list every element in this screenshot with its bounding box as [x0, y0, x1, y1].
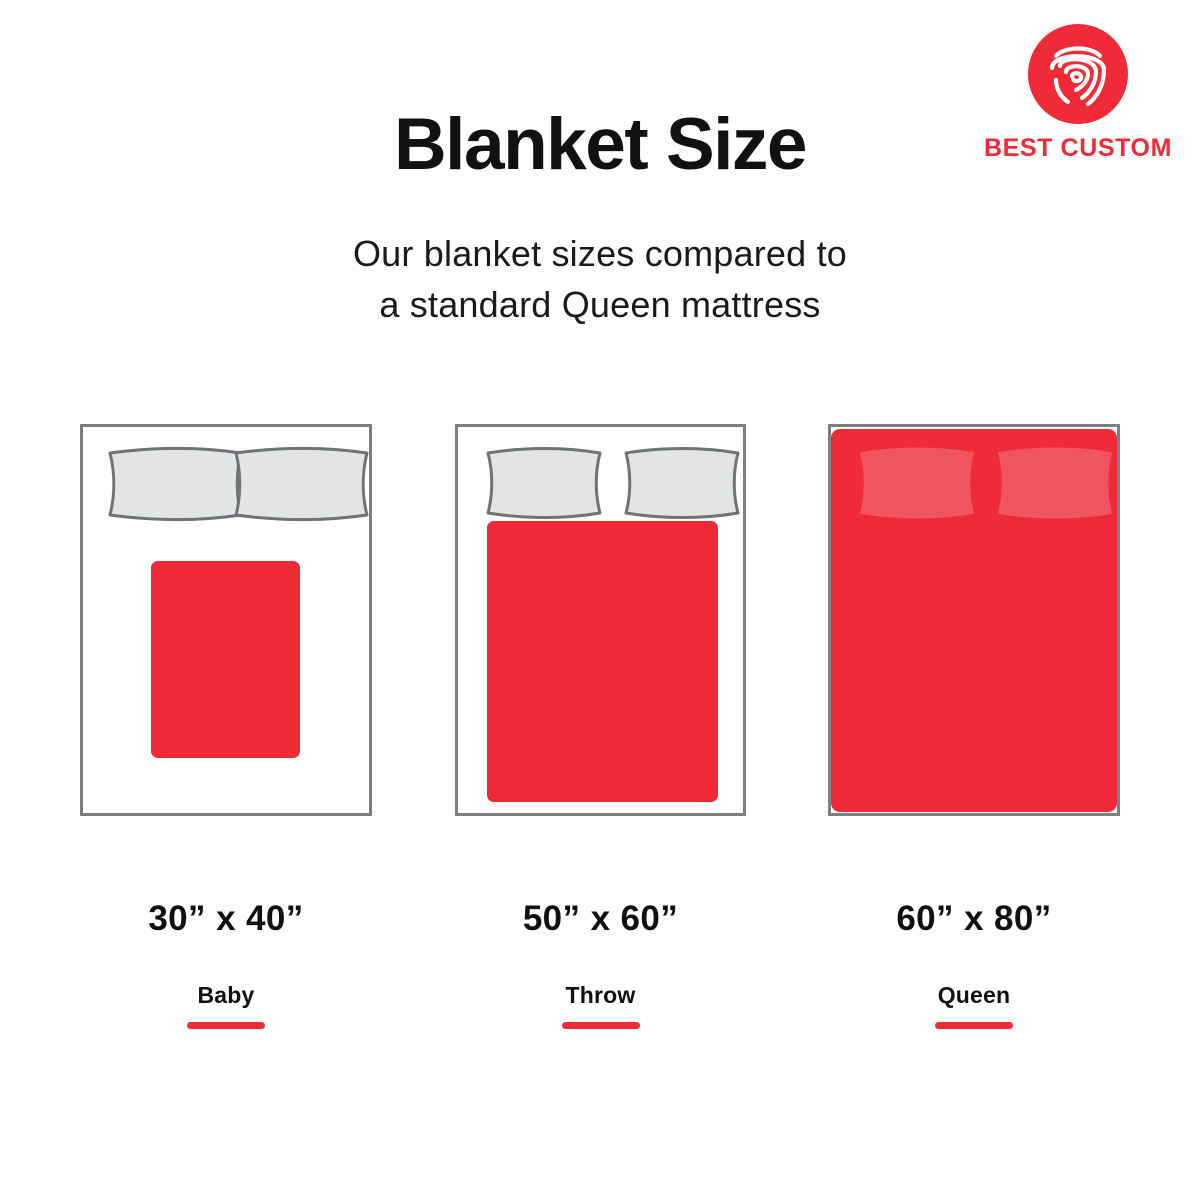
page-subtitle-line-1: Our blanket sizes compared to	[0, 228, 1200, 279]
bed-diagram-queen	[828, 424, 1120, 816]
pillow-right	[228, 445, 375, 523]
blanket-throw	[487, 521, 718, 802]
bed-diagram-baby	[80, 424, 372, 816]
size-label-queen: 60” x 80”	[828, 900, 1120, 939]
pillow-right	[618, 445, 746, 521]
blanket-queen	[831, 429, 1117, 812]
accent-rule-queen	[935, 1022, 1013, 1029]
accent-rule-throw	[562, 1022, 640, 1029]
blanket-baby	[151, 561, 300, 758]
size-label-throw: 50” x 60”	[455, 900, 746, 939]
name-label-baby: Baby	[80, 983, 372, 1008]
page-subtitle: Our blanket sizes compared to a standard…	[0, 228, 1200, 330]
page-subtitle-line-2: a standard Queen mattress	[0, 279, 1200, 330]
accent-rule-baby	[187, 1022, 265, 1029]
caption-queen: 60” x 80” Queen	[828, 900, 1120, 1029]
pillow-left	[480, 445, 608, 521]
caption-baby: 30” x 40” Baby	[80, 900, 372, 1029]
bed-diagrams-row	[0, 424, 1200, 816]
name-label-throw: Throw	[455, 983, 746, 1008]
captions-row: 30” x 40” Baby 50” x 60” Throw 60” x 80”…	[0, 900, 1200, 1040]
page-title: Blanket Size	[0, 107, 1200, 184]
pillow-left	[102, 445, 249, 523]
size-label-baby: 30” x 40”	[80, 900, 372, 939]
bed-diagram-throw	[455, 424, 746, 816]
name-label-queen: Queen	[828, 983, 1120, 1008]
caption-throw: 50” x 60” Throw	[455, 900, 746, 1029]
